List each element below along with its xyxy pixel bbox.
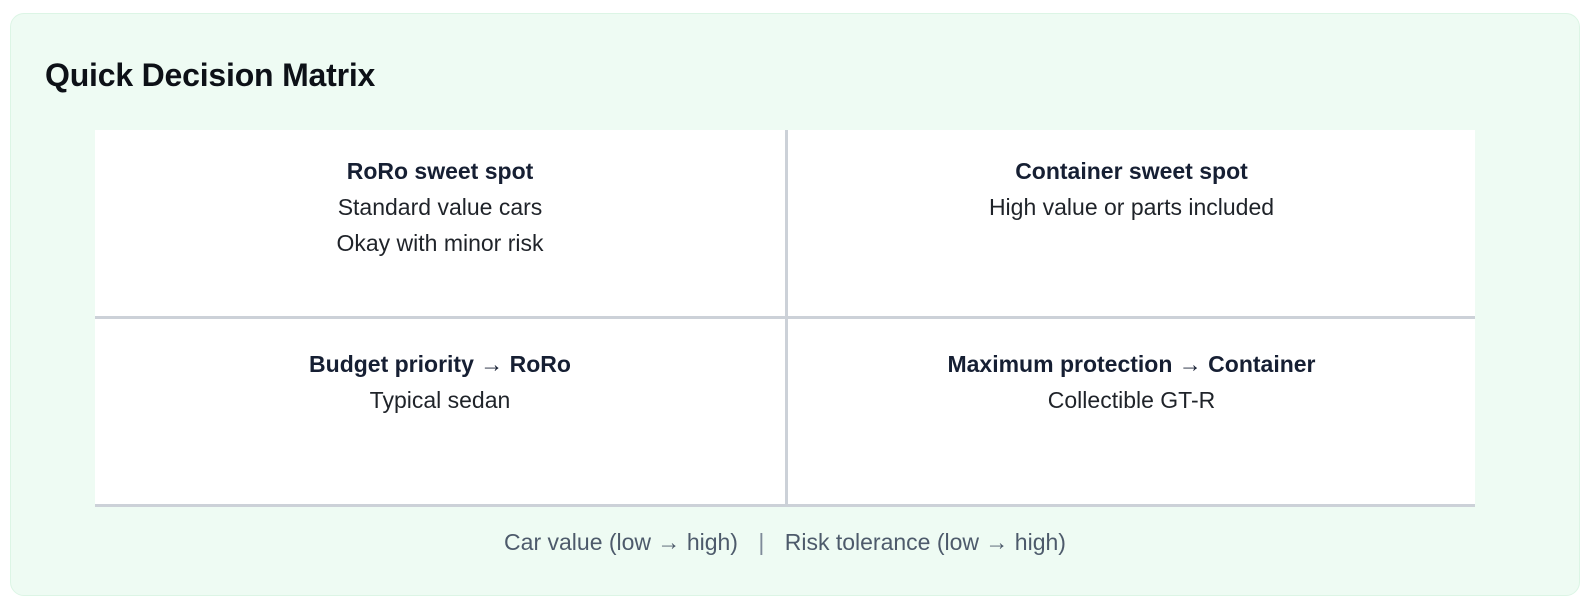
matrix-cell-line: Standard value cars: [119, 189, 761, 225]
matrix-cell-heading: Budget priority → RoRo: [119, 349, 761, 379]
y-axis-label: Risk tolerance (low → high): [785, 529, 1066, 555]
matrix-cell-heading: Maximum protection → Container: [812, 349, 1451, 379]
x-axis-label: Car value (low → high): [504, 529, 738, 555]
matrix-cell-container-sweet-spot: Container sweet spot High value or parts…: [785, 130, 1475, 316]
quick-decision-matrix-card: Quick Decision Matrix RoRo sweet spot St…: [10, 13, 1580, 596]
page-title: Quick Decision Matrix: [45, 56, 375, 94]
axis-label-separator: |: [744, 526, 778, 558]
matrix-cell-line: Collectible GT-R: [812, 382, 1451, 418]
matrix-cell-heading: RoRo sweet spot: [119, 156, 761, 186]
matrix-cell-line: Okay with minor risk: [119, 225, 761, 261]
matrix-cell-heading: Container sweet spot: [812, 156, 1451, 186]
axis-legend: Car value (low → high) | Risk tolerance …: [95, 526, 1475, 558]
matrix-cell-line: High value or parts included: [812, 189, 1451, 225]
matrix-cell-roro-sweet-spot: RoRo sweet spot Standard value cars Okay…: [95, 130, 785, 316]
matrix-cell-line: Typical sedan: [119, 382, 761, 418]
decision-matrix-grid: RoRo sweet spot Standard value cars Okay…: [95, 130, 1475, 507]
matrix-cell-maximum-protection: Maximum protection → Container Collectib…: [785, 316, 1475, 504]
matrix-cell-budget-priority: Budget priority → RoRo Typical sedan: [95, 316, 785, 504]
